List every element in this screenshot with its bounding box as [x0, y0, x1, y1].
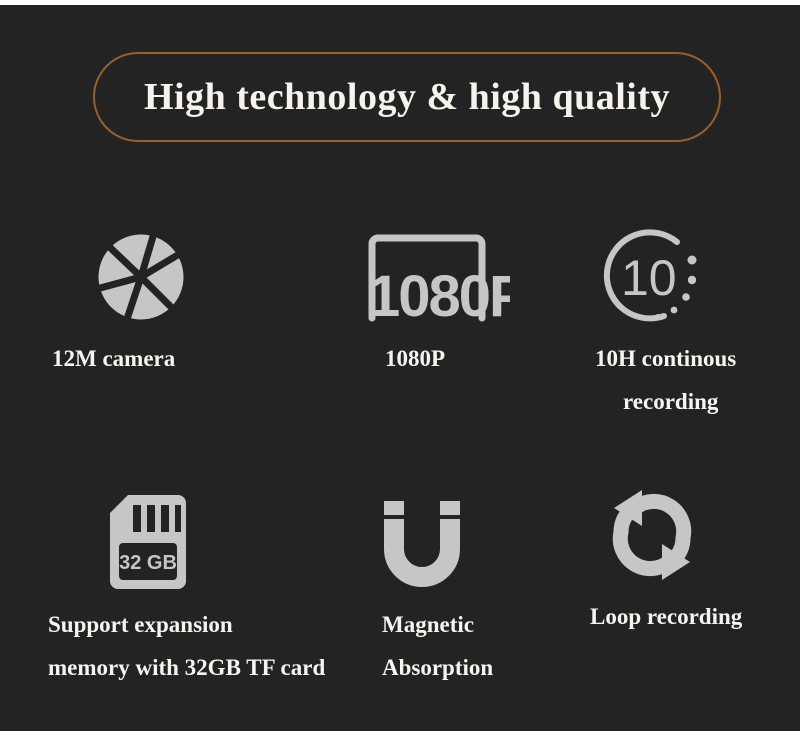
feature-battery-life: 10 10H continous recording [575, 217, 800, 423]
feature-loop: Loop recording [575, 475, 800, 638]
feature-battery-life-icon-box: 10 [575, 217, 800, 337]
feature-camera-label: 12M camera [30, 337, 282, 380]
dark-panel: High technology & high quality [0, 5, 800, 731]
feature-resolution: 1080P 1080P [330, 217, 582, 380]
feature-camera: 12M camera [30, 217, 282, 380]
loop-arrows-icon [597, 480, 707, 590]
feature-storage-label-line1: Support expansion [30, 603, 282, 646]
clock-10-hours-icon-text: 10 [621, 250, 677, 306]
feature-loop-label: Loop recording [575, 595, 800, 638]
camera-aperture-icon [95, 231, 187, 323]
page-title: High technology & high quality [144, 78, 670, 116]
horseshoe-magnet-icon [372, 493, 472, 593]
sd-card-icon-text: 32 GB [119, 552, 177, 574]
sd-card-icon: 32 GB [102, 493, 192, 593]
feature-battery-life-label-line2: recording [575, 380, 800, 423]
feature-resolution-icon-box: 1080P [330, 217, 582, 337]
title-banner: High technology & high quality [93, 52, 721, 142]
product-feature-infographic: High technology & high quality [0, 0, 800, 739]
clock-10-hours-icon: 10 [600, 222, 715, 332]
feature-loop-icon-box [575, 475, 800, 595]
feature-resolution-label: 1080P [330, 337, 582, 380]
feature-magnetic-label-line2: Absorption [362, 646, 614, 689]
feature-storage-icon-box: 32 GB [30, 483, 282, 603]
feature-storage: 32 GB Support expansion memory with 32GB… [30, 483, 282, 689]
feature-storage-label-line2: memory with 32GB TF card [30, 646, 282, 689]
screen-1080p-icon: 1080P [360, 230, 510, 325]
feature-camera-icon-box [30, 217, 282, 337]
screen-1080p-icon-text: 1080P [368, 264, 510, 325]
feature-battery-life-label-line1: 10H continous [575, 337, 800, 380]
